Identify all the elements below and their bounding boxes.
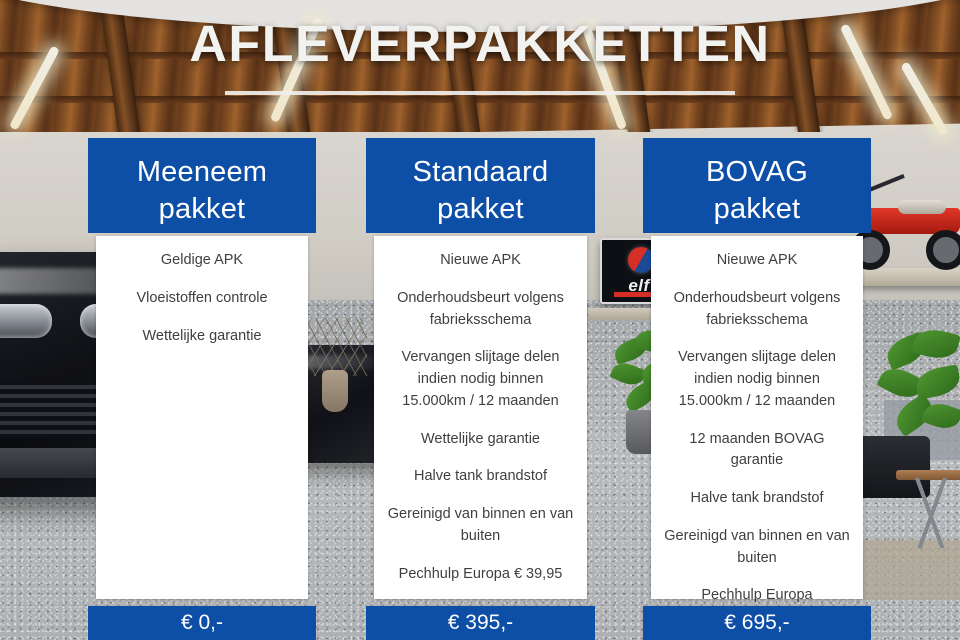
package-feature: Nieuwe APK bbox=[663, 250, 851, 272]
package-feature: Onderhoudsbeurt volgens fabrieksschema bbox=[663, 288, 851, 332]
package-feature: Nieuwe APK bbox=[386, 250, 575, 272]
package-feature: Pechhulp Europa € 39,95 bbox=[386, 564, 575, 586]
package-feature: Halve tank brandstof bbox=[386, 466, 575, 488]
package-name-line2: pakket bbox=[94, 191, 310, 228]
package-feature: Halve tank brandstof bbox=[663, 488, 851, 510]
package-feature: Gereinigd van binnen en van buiten bbox=[386, 504, 575, 548]
package-feature-list: Nieuwe APK Onderhoudsbeurt volgens fabri… bbox=[374, 236, 587, 599]
package-feature: Vervangen slijtage delen indien nodig bi… bbox=[386, 347, 575, 412]
package-card-standaard[interactable]: Standaard pakket Nieuwe APK Onderhoudsbe… bbox=[366, 138, 595, 599]
package-feature-list: Geldige APK Vloeistoffen controle Wettel… bbox=[96, 236, 308, 599]
package-feature: Pechhulp Europa bbox=[663, 585, 851, 607]
package-cards: Meeneem pakket Geldige APK Vloeistoffen … bbox=[0, 0, 960, 640]
package-name-line1: Standaard bbox=[372, 154, 589, 191]
package-feature: Geldige APK bbox=[108, 250, 296, 272]
package-feature: Wettelijke garantie bbox=[108, 326, 296, 348]
package-feature: Onderhoudsbeurt volgens fabrieksschema bbox=[386, 288, 575, 332]
package-price-meeneem[interactable]: € 0,- bbox=[88, 606, 316, 640]
package-card-header: Meeneem pakket bbox=[88, 138, 316, 233]
package-card-meeneem[interactable]: Meeneem pakket Geldige APK Vloeistoffen … bbox=[88, 138, 316, 599]
pricing-overlay: AFLEVERPAKKETTEN Meeneem pakket Geldige … bbox=[0, 0, 960, 640]
package-price-bovag[interactable]: € 695,- bbox=[643, 606, 871, 640]
package-feature: 12 maanden BOVAG garantie bbox=[663, 429, 851, 473]
package-feature: Wettelijke garantie bbox=[386, 429, 575, 451]
package-name-line1: Meeneem bbox=[94, 154, 310, 191]
package-name-line2: pakket bbox=[649, 191, 865, 228]
package-feature-list: Nieuwe APK Onderhoudsbeurt volgens fabri… bbox=[651, 236, 863, 599]
package-feature: Vloeistoffen controle bbox=[108, 288, 296, 310]
package-card-header: Standaard pakket bbox=[366, 138, 595, 233]
package-name-line1: BOVAG bbox=[649, 154, 865, 191]
package-card-bovag[interactable]: BOVAG pakket Nieuwe APK Onderhoudsbeurt … bbox=[643, 138, 871, 599]
package-price-standaard[interactable]: € 395,- bbox=[366, 606, 595, 640]
package-feature: Gereinigd van binnen en van buiten bbox=[663, 526, 851, 570]
package-card-header: BOVAG pakket bbox=[643, 138, 871, 233]
package-feature: Vervangen slijtage delen indien nodig bi… bbox=[663, 347, 851, 412]
package-name-line2: pakket bbox=[372, 191, 589, 228]
